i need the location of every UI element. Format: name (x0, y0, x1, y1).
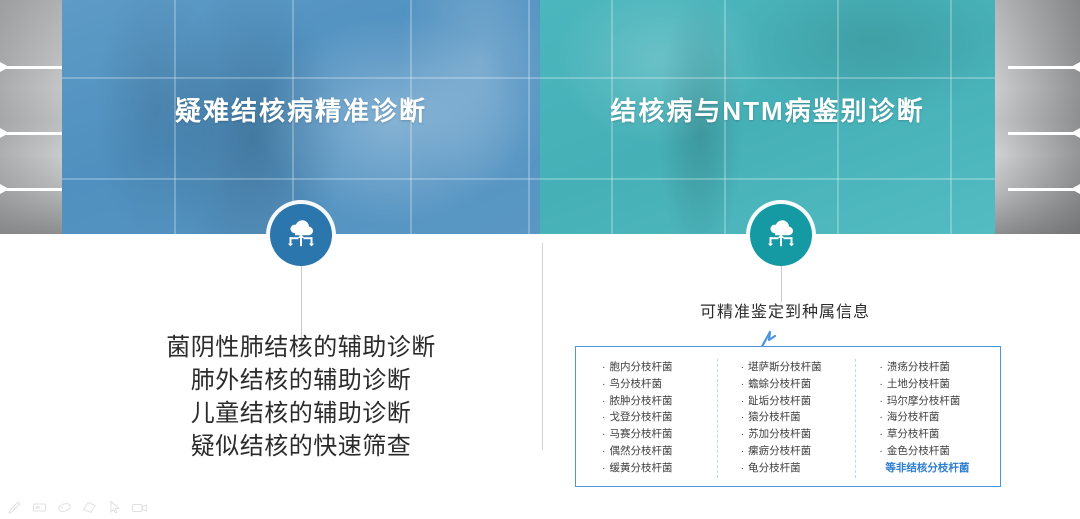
species-item: 蟾蜍分枝杆菌 (741, 376, 858, 393)
species-item: 猿分枝杆菌 (741, 409, 858, 426)
edge-gridline-right-3 (1008, 188, 1080, 191)
species-item: 脓肿分枝杆菌 (602, 393, 719, 410)
species-item: 瘰疬分枝杆菌 (741, 443, 858, 460)
left-point: 肺外结核的辅助诊断 (62, 364, 540, 397)
edge-gridline-cap (0, 62, 9, 72)
center-divider (542, 243, 543, 450)
edge-gridline-cap (1071, 62, 1080, 72)
species-list-box: 胞内分枝杆菌 鸟分枝杆菌 脓肿分枝杆菌 戈登分枝杆菌 马赛分枝杆菌 偶然分枝杆菌… (575, 346, 1001, 487)
species-item: 鸟分枝杆菌 (602, 376, 719, 393)
eraser-icon[interactable] (81, 500, 98, 515)
species-item: 玛尔摩分枝杆菌 (879, 393, 996, 410)
species-item: 偶然分枝杆菌 (602, 443, 719, 460)
edge-gridline-right-2 (1008, 132, 1080, 135)
left-point: 疑似结核的快速筛查 (62, 430, 540, 463)
species-item: 戈登分枝杆菌 (602, 409, 719, 426)
species-tail-label: 等非结核分枝杆菌 (879, 460, 996, 477)
species-item: 溃疡分枝杆菌 (879, 359, 996, 376)
edge-gridline-cap (1071, 128, 1080, 138)
edge-gridline-cap (0, 128, 9, 138)
species-item: 胞内分枝杆菌 (602, 359, 719, 376)
edge-gridline-right-1 (1008, 66, 1080, 69)
species-item: 龟分枝杆菌 (741, 460, 858, 477)
left-point: 菌阴性肺结核的辅助诊断 (62, 331, 540, 364)
camera-icon[interactable] (131, 500, 148, 515)
pen-icon[interactable] (6, 500, 23, 515)
species-column-3: 溃疡分枝杆菌 土地分枝杆菌 玛尔摩分枝杆菌 海分枝杆菌 草分枝杆菌 金色分枝杆菌… (857, 359, 996, 476)
species-column-2: 堪萨斯分枝杆菌 蟾蜍分枝杆菌 趾垢分枝杆菌 猿分枝杆菌 苏加分枝杆菌 瘰疬分枝杆… (719, 359, 858, 476)
edge-gridline-cap (1071, 184, 1080, 194)
left-point: 儿童结核的辅助诊断 (62, 397, 540, 430)
connector-line-right (781, 266, 782, 302)
panel-right[interactable]: 结核病与NTM病鉴别诊断 (540, 0, 995, 234)
panel-right-title: 结核病与NTM病鉴别诊断 (540, 98, 995, 124)
slide-canvas: 疑难结核病精准诊断 结核病与NTM病鉴别诊断 (0, 0, 1080, 519)
badge-right[interactable] (750, 204, 812, 266)
panel-left-title: 疑难结核病精准诊断 (62, 98, 540, 124)
edge-gridline-cap (0, 184, 9, 194)
species-item: 海分枝杆菌 (879, 409, 996, 426)
species-item: 草分枝杆菌 (879, 426, 996, 443)
ellipse-icon[interactable] (56, 500, 73, 515)
species-item: 苏加分枝杆菌 (741, 426, 858, 443)
species-column-1: 胞内分枝杆菌 鸟分枝杆菌 脓肿分枝杆菌 戈登分枝杆菌 马赛分枝杆菌 偶然分枝杆菌… (580, 359, 719, 476)
annotation-toolbar[interactable] (6, 500, 148, 515)
species-item: 金色分枝杆菌 (879, 443, 996, 460)
cursor-icon[interactable] (106, 500, 123, 515)
species-item: 堪萨斯分枝杆菌 (741, 359, 858, 376)
cloud-transfer-icon (284, 219, 318, 251)
species-item: 马赛分枝杆菌 (602, 426, 719, 443)
highlighter-icon[interactable] (31, 500, 48, 515)
cloud-transfer-icon (764, 219, 798, 251)
panel-left[interactable]: 疑难结核病精准诊断 (62, 0, 540, 234)
species-item: 缓黄分枝杆菌 (602, 460, 719, 477)
right-caption: 可精准鉴定到种属信息 (575, 298, 995, 322)
species-item: 土地分枝杆菌 (879, 376, 996, 393)
species-item: 趾垢分枝杆菌 (741, 393, 858, 410)
badge-left[interactable] (270, 204, 332, 266)
banner-strip: 疑难结核病精准诊断 结核病与NTM病鉴别诊断 (0, 0, 1080, 234)
left-points-list: 菌阴性肺结核的辅助诊断 肺外结核的辅助诊断 儿童结核的辅助诊断 疑似结核的快速筛… (62, 331, 540, 463)
